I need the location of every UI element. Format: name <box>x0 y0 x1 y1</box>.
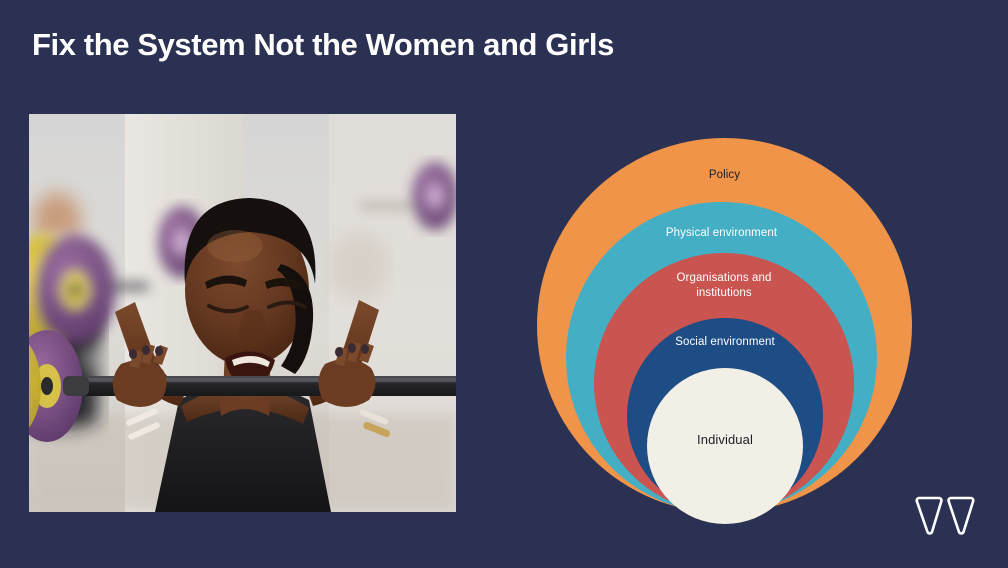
slide: Fix the System Not the Women and Girls <box>0 0 1008 568</box>
w-logo <box>914 492 976 544</box>
ring-individual-label: Individual <box>647 432 803 447</box>
ring-policy-label: Policy <box>537 168 912 183</box>
ring-individual: Individual <box>647 368 803 524</box>
page-title: Fix the System Not the Women and Girls <box>32 26 614 63</box>
socio-ecological-diagram: Policy Physical environment Organisation… <box>500 120 960 530</box>
gym-photo <box>29 114 456 512</box>
